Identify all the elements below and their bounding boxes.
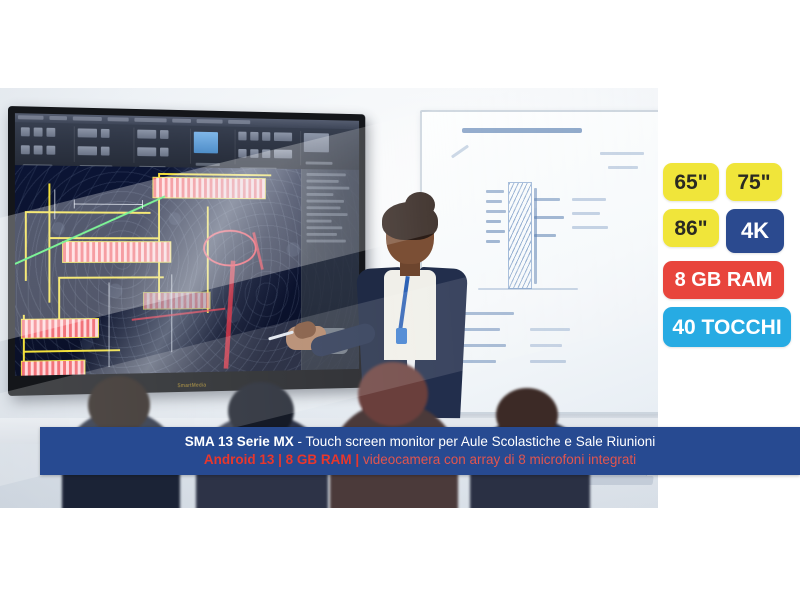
- badge-4k[interactable]: 4K: [726, 209, 784, 253]
- whiteboard-ink-mark: [486, 220, 501, 223]
- spec-badges-row: 8 GB RAM: [663, 261, 793, 299]
- cad-ribbon-group[interactable]: [135, 128, 191, 164]
- product-banner: SMA 13 Serie MX - Touch screen monitor p…: [40, 427, 800, 475]
- whiteboard-ink-mark: [486, 240, 500, 243]
- cad-building-block: [62, 241, 171, 263]
- badge-size-75[interactable]: 75": [726, 163, 782, 201]
- presenter-hair-bun: [405, 192, 435, 218]
- banner-line-1-rest: - Touch screen monitor per Aule Scolasti…: [294, 434, 655, 449]
- banner-line-2-rest: videocamera con array di 8 microfoni int…: [359, 452, 636, 467]
- banner-specs-highlight: Android 13 | 8 GB RAM |: [204, 452, 359, 467]
- page-root: SmartMedia: [0, 0, 800, 600]
- interactive-touch-monitor[interactable]: SmartMedia: [8, 106, 365, 396]
- banner-line-2: Android 13 | 8 GB RAM | videocamera con …: [204, 452, 636, 469]
- whiteboard-ink-mark: [572, 212, 600, 215]
- presenter-id-badge: [396, 328, 407, 344]
- whiteboard-ink-mark: [572, 226, 608, 229]
- banner-line-1: SMA 13 Serie MX - Touch screen monitor p…: [185, 434, 656, 451]
- whiteboard-ink-mark: [530, 344, 562, 347]
- whiteboard-ink-mark: [486, 210, 506, 213]
- cad-dimension-line: [109, 282, 110, 367]
- spec-badges-row: 65" 75": [663, 163, 793, 201]
- cad-dimension-line: [54, 189, 55, 219]
- whiteboard-diagram-ink: [508, 182, 532, 289]
- whiteboard-ink-mark: [478, 288, 578, 290]
- whiteboard-ink-mark: [608, 166, 638, 169]
- badge-size-86[interactable]: 86": [663, 209, 719, 247]
- whiteboard-ink-mark: [534, 216, 564, 219]
- badge-ram[interactable]: 8 GB RAM: [663, 261, 784, 299]
- whiteboard-ink-mark: [451, 145, 469, 159]
- cad-dimension-line: [142, 200, 143, 209]
- cad-ribbon-group[interactable]: [192, 129, 236, 165]
- spec-badges: 65" 75" 86" 4K 8 GB RAM 40 TOCCHI: [663, 163, 793, 355]
- whiteboard-ink-mark: [534, 198, 560, 201]
- cad-boundary-line: [25, 211, 27, 281]
- cad-building-block: [21, 360, 86, 376]
- banner-model-name: SMA 13 Serie MX: [185, 434, 294, 449]
- cad-dimension-line: [74, 200, 75, 209]
- cad-building-block: [21, 318, 99, 339]
- whiteboard-ink-mark: [600, 152, 644, 155]
- whiteboard-heading-ink: [462, 128, 582, 133]
- badge-size-65[interactable]: 65": [663, 163, 719, 201]
- whiteboard-ink-mark: [486, 190, 504, 193]
- cad-building-block: [143, 292, 211, 310]
- whiteboard-ink-mark: [534, 234, 556, 237]
- audience-head: [358, 362, 428, 426]
- cad-ribbon-group[interactable]: [236, 130, 301, 166]
- whiteboard-ink-mark: [486, 200, 502, 203]
- cad-building-block: [152, 177, 265, 199]
- cad-boundary-line: [48, 183, 50, 302]
- monitor-brand-logo: SmartMedia: [177, 383, 206, 389]
- spec-badges-row: 40 TOCCHI: [663, 307, 793, 347]
- whiteboard-ink-mark: [530, 328, 570, 331]
- whiteboard-ink-mark: [486, 230, 505, 233]
- whiteboard-ink-mark: [572, 198, 606, 201]
- whiteboard-ink-mark: [530, 360, 566, 363]
- audience-head: [88, 376, 150, 434]
- cad-ribbon-group[interactable]: [76, 126, 135, 162]
- presenter-shirt: [384, 270, 436, 360]
- cad-ribbon-group[interactable]: [19, 125, 75, 162]
- cad-ribbon-group[interactable]: [302, 131, 347, 166]
- cad-ribbon-toolbar[interactable]: [15, 113, 359, 171]
- spec-badges-row: 86" 4K: [663, 209, 793, 253]
- badge-touch[interactable]: 40 TOCCHI: [663, 307, 791, 347]
